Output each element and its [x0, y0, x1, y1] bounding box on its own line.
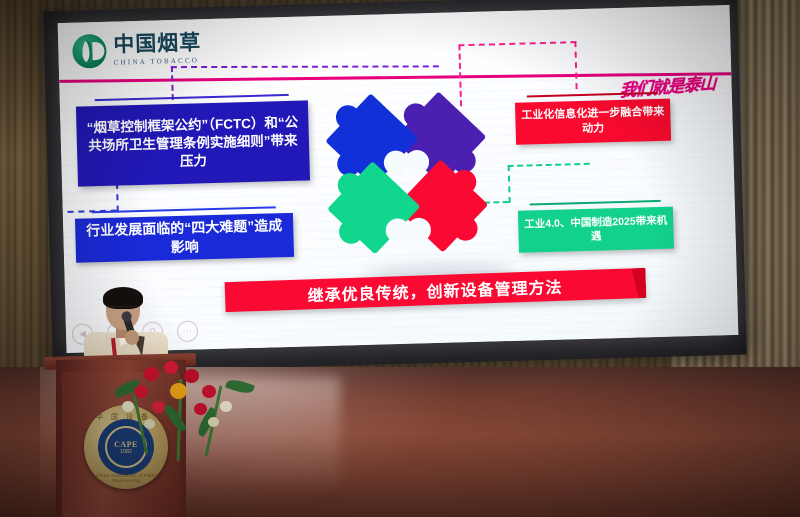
banner-edge — [631, 268, 646, 298]
callout-box-four-problems: 行业发展面临的“四大难题”造成影响 — [75, 213, 294, 263]
callout-box-fctc: “烟草控制框架公约”（FCTC）和“公共场所卫生管理条例实施细则”带来压力 — [76, 100, 310, 186]
flower-red — [134, 385, 148, 398]
callout-box-industry40: 工业4.0、中国制造2025带来机遇 — [518, 207, 674, 253]
conference-hall-scene: 中国烟草 CHINA TOBACCO 我们就是泰山 — [0, 0, 800, 517]
connector-pink-vertical-2 — [574, 41, 577, 89]
flower-white — [122, 401, 134, 412]
flower-red — [202, 385, 216, 398]
flower-white — [208, 417, 219, 427]
callout-text-industry40: 工业4.0、中国制造2025带来机遇 — [524, 214, 668, 246]
flower-red — [164, 361, 178, 374]
flower-leaf — [163, 403, 187, 434]
china-tobacco-leaf-icon — [72, 34, 107, 69]
flower-red — [144, 367, 159, 381]
callout-box-informatization: 工业化信息化进一步融合带来动力 — [515, 99, 671, 145]
flower-red — [184, 369, 199, 383]
flower-white — [144, 419, 155, 429]
brand-logo: 中国烟草 CHINA TOBACCO — [72, 31, 202, 68]
flower-leaf — [225, 377, 255, 396]
callout-text-fctc: “烟草控制框架公约”（FCTC）和“公共场所卫生管理条例实施细则”带来压力 — [82, 113, 303, 174]
flower-arrangement — [108, 355, 264, 465]
emblem-name-en: China Association of Plant Engineering — [84, 473, 168, 483]
flower-red — [194, 403, 207, 415]
callout-text-informatization: 工业化信息化进一步融合带来动力 — [521, 105, 665, 139]
flower-yellow — [170, 383, 187, 399]
connector-pink-horizontal — [458, 41, 576, 46]
flower-white — [220, 401, 232, 412]
flower-red — [152, 401, 165, 413]
banner-text: 继承优良传统，创新设备管理方法 — [307, 274, 563, 307]
callout-text-four-problems: 行业发展面临的“四大难题”造成影响 — [81, 216, 288, 259]
speaker-hand — [125, 330, 139, 345]
brand-name-cn: 中国烟草 — [113, 32, 202, 55]
more-options-icon[interactable]: ⋯ — [177, 320, 199, 342]
